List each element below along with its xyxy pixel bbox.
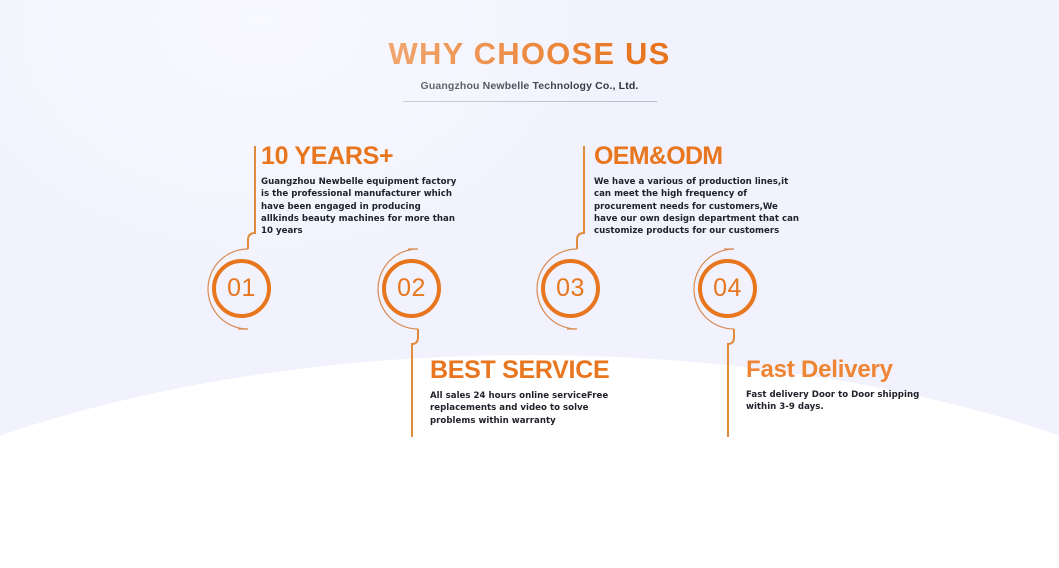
step-number-04: 04: [698, 259, 757, 318]
why-choose-us-infographic: WHY CHOOSE US Guangzhou Newbelle Technol…: [0, 0, 1059, 568]
step-content-03: OEM&ODM We have a various of production …: [594, 143, 804, 237]
step-number-03: 03: [541, 259, 600, 318]
step-number-02: 02: [382, 259, 441, 318]
step-marker-02[interactable]: 02: [366, 243, 458, 335]
header-divider: [403, 101, 657, 102]
company-name: Guangzhou Newbelle Technology Co., Ltd.: [0, 80, 1059, 92]
page-title: WHY CHOOSE US: [0, 36, 1059, 72]
step-marker-01[interactable]: 01: [196, 243, 288, 335]
step-marker-04[interactable]: 04: [682, 243, 774, 335]
step-body-04: Fast delivery Door to Door shipping with…: [746, 389, 941, 413]
step-body-02: All sales 24 hours online serviceFree re…: [430, 390, 615, 427]
step-body-03: We have a various of production lines,it…: [594, 176, 804, 237]
step-content-01: 10 YEARS+ Guangzhou Newbelle equipment f…: [261, 143, 461, 237]
step-heading-03: OEM&ODM: [594, 143, 804, 169]
stem-01: [248, 146, 255, 249]
step-heading-01: 10 YEARS+: [261, 143, 461, 169]
header: WHY CHOOSE US Guangzhou Newbelle Technol…: [0, 36, 1059, 102]
step-body-01: Guangzhou Newbelle equipment factory is …: [261, 176, 461, 237]
step-heading-04: Fast Delivery: [746, 357, 941, 382]
step-heading-02: BEST SERVICE: [430, 357, 615, 383]
step-content-02: BEST SERVICE All sales 24 hours online s…: [430, 357, 615, 427]
step-marker-03[interactable]: 03: [525, 243, 617, 335]
step-number-01: 01: [212, 259, 271, 318]
step-content-04: Fast Delivery Fast delivery Door to Door…: [746, 357, 941, 414]
stem-03: [577, 146, 584, 249]
